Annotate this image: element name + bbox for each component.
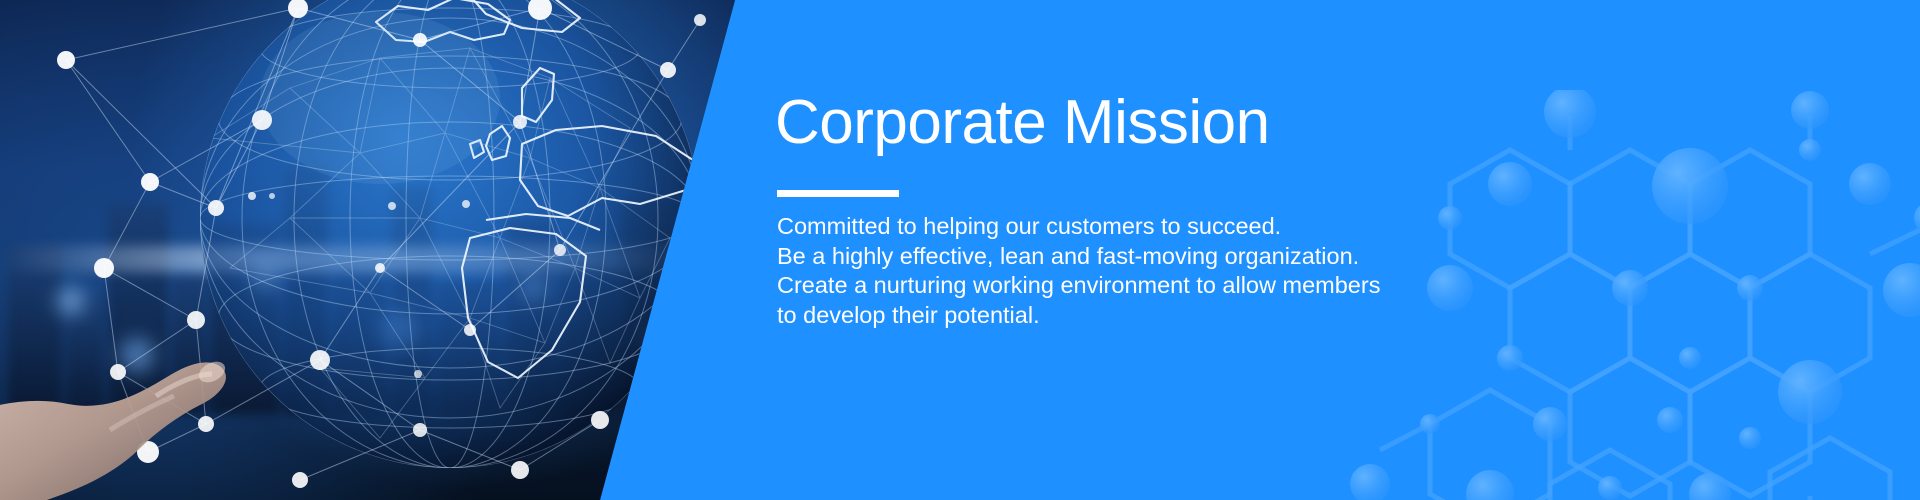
mission-content: Corporate Mission Committed to helping o… (775, 0, 1475, 500)
page-title: Corporate Mission (775, 92, 1270, 154)
human-hand (0, 300, 320, 500)
title-divider (777, 190, 899, 197)
corporate-mission-banner: Corporate Mission Committed to helping o… (0, 0, 1920, 500)
mission-line: to develop their potential. (777, 301, 1417, 331)
mission-line: Be a highly effective, lean and fast-mov… (777, 242, 1417, 272)
mission-statement-list: Committed to helping our customers to su… (777, 212, 1417, 330)
mission-line: Create a nurturing working environment t… (777, 271, 1417, 301)
mission-line: Committed to helping our customers to su… (777, 212, 1417, 242)
